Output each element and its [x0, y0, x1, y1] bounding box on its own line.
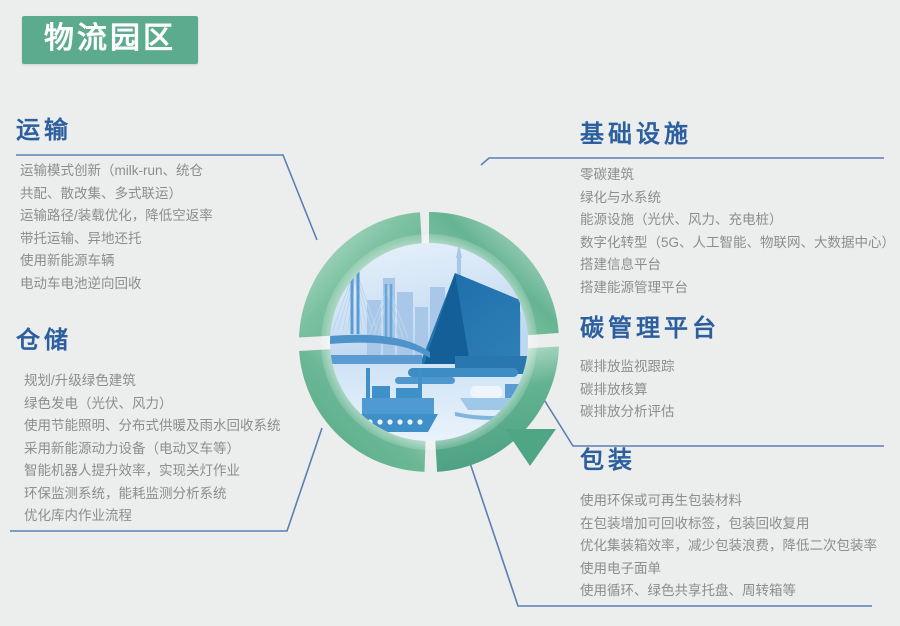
list-item: 采用新能源动力设备（电动叉车等）	[24, 438, 281, 461]
section-heading-carbon: 碳管理平台	[580, 316, 720, 342]
mountain-base	[455, 356, 528, 374]
list-item: 规划/升级绿色建筑	[24, 370, 281, 393]
pier-bar	[408, 368, 518, 377]
ring-segment-bottom	[299, 347, 427, 472]
page-title-badge: 物流园区	[22, 16, 198, 64]
list-item: 电动车电池逆向回收	[20, 273, 213, 296]
section-heading-transport: 运输	[16, 118, 213, 144]
page-title: 物流园区	[44, 22, 176, 55]
ring-segment-top	[429, 212, 559, 338]
port-city-illustration	[330, 243, 528, 443]
list-item: 碳排放分析评估	[580, 401, 720, 424]
section-list-warehouse: 规划/升级绿色建筑 绿色发电（光伏、风力） 使用节能照明、分布式供暖及雨水回收系…	[24, 370, 281, 528]
bridge-pylon-right	[386, 284, 391, 344]
list-item: 共配、散改集、多式联运）	[20, 183, 213, 206]
donut-ring	[299, 212, 559, 472]
bridge-pylon-left	[352, 266, 358, 334]
bridge-deck-flat	[330, 355, 422, 364]
list-item: 环保监测系统，能耗监测分析系统	[24, 483, 281, 506]
list-item: 优化库内作业流程	[24, 505, 281, 528]
section-heading-infrastructure: 基础设施	[580, 122, 895, 148]
list-item: 碳排放核算	[580, 379, 720, 402]
list-item: 使用新能源车辆	[20, 250, 213, 273]
list-item: 搭建信息平台	[580, 254, 895, 277]
ring-segment-left	[299, 212, 424, 337]
ring-segment-right	[433, 347, 559, 472]
list-item: 带托运输、异地还托	[20, 228, 213, 251]
inner-halo	[321, 234, 537, 450]
list-item: 绿化与水系统	[580, 187, 895, 210]
infographic-canvas: 物流园区	[0, 0, 900, 626]
bridge-deck	[330, 335, 430, 358]
list-item: 运输模式创新（milk-run、统仓	[20, 160, 213, 183]
list-item: 使用电子面单	[580, 558, 877, 581]
list-item: 搭建能源管理平台	[580, 277, 895, 300]
tugboat	[455, 384, 528, 420]
list-item: 使用循环、绿色共享托盘、周转箱等	[580, 580, 877, 603]
water	[330, 363, 528, 443]
section-heading-packaging: 包装	[580, 448, 877, 474]
list-item: 碳排放监视跟踪	[580, 356, 720, 379]
section-warehouse: 仓储 规划/升级绿色建筑 绿色发电（光伏、风力） 使用节能照明、分布式供暖及雨水…	[16, 328, 281, 528]
cable-stayed-bridge	[330, 266, 430, 364]
section-list-transport: 运输模式创新（milk-run、统仓 共配、散改集、多式联运） 运输路径/装载优…	[20, 160, 213, 295]
section-transport: 运输 运输模式创新（milk-run、统仓 共配、散改集、多式联运） 运输路径/…	[16, 118, 213, 295]
list-item: 在包装增加可回收标签，包装回收复用	[580, 513, 877, 536]
city-skyline	[367, 243, 521, 364]
ring-arrowhead	[505, 429, 556, 466]
section-heading-warehouse: 仓储	[16, 328, 281, 354]
list-item: 使用环保或可再生包装材料	[580, 490, 877, 513]
section-carbon: 碳管理平台 碳排放监视跟踪 碳排放核算 碳排放分析评估	[580, 316, 720, 424]
list-item: 运输路径/装载优化，降低空返率	[20, 205, 213, 228]
section-list-carbon: 碳排放监视跟踪 碳排放核算 碳排放分析评估	[580, 356, 720, 424]
section-list-packaging: 使用环保或可再生包装材料 在包装增加可回收标签，包装回收复用 优化集装箱效率，减…	[580, 490, 877, 603]
list-item: 使用节能照明、分布式供暖及雨水回收系统	[24, 415, 281, 438]
sky	[330, 243, 528, 363]
section-infrastructure: 基础设施 零碳建筑 绿化与水系统 能源设施（光伏、风力、充电桩） 数字化转型（5…	[580, 122, 895, 299]
section-packaging: 包装 使用环保或可再生包装材料 在包装增加可回收标签，包装回收复用 优化集装箱效…	[580, 448, 877, 603]
pier-bar-2	[395, 377, 455, 384]
list-item: 数字化转型（5G、人工智能、物联网、大数据中心）	[580, 232, 895, 255]
list-item: 绿色发电（光伏、风力）	[24, 393, 281, 416]
list-item: 智能机器人提升效率，实现关灯作业	[24, 460, 281, 483]
section-list-infrastructure: 零碳建筑 绿化与水系统 能源设施（光伏、风力、充电桩） 数字化转型（5G、人工智…	[580, 164, 895, 299]
mountain	[420, 273, 520, 364]
cargo-ship	[358, 368, 438, 432]
mountain-ridge	[424, 273, 470, 364]
list-item: 能源设施（光伏、风力、充电桩）	[580, 209, 895, 232]
list-item: 零碳建筑	[580, 164, 895, 187]
list-item: 优化集装箱效率，减少包装浪费，降低二次包装率	[580, 535, 877, 558]
